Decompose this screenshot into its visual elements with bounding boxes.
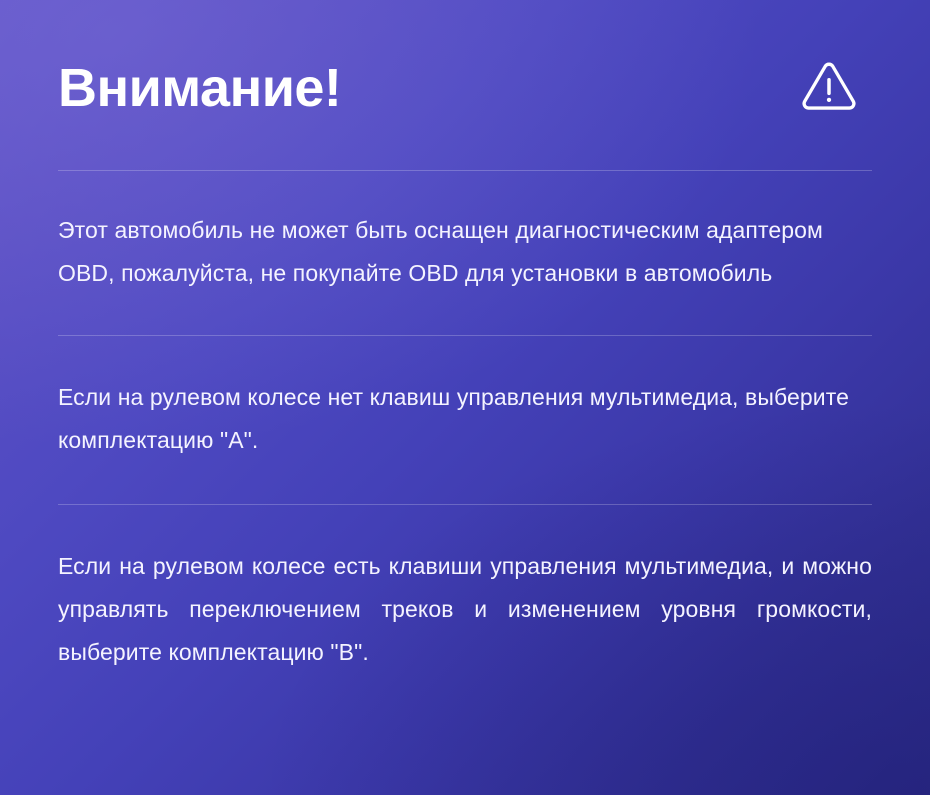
notice-item-trim-option-a: Если на рулевом колесе нет клавиш управл… — [58, 336, 872, 504]
notice-text: Если на рулевом колесе есть клавиши упра… — [58, 545, 872, 674]
notice-text: Этот автомобиль не может быть оснащен ди… — [58, 209, 872, 295]
notice-text: Если на рулевом колесе нет клавиш управл… — [58, 376, 872, 462]
notice-item-trim-option-b: Если на рулевом колесе есть клавиши упра… — [58, 505, 872, 714]
notice-header: Внимание! — [58, 0, 872, 170]
warning-notice-card: Внимание! Этот автомобиль не может быть … — [0, 0, 930, 795]
notice-item-obd-not-supported: Этот автомобиль не может быть оснащен ди… — [58, 171, 872, 335]
warning-icon-wrap — [798, 57, 872, 119]
warning-triangle-icon — [798, 57, 860, 119]
page-title: Внимание! — [58, 61, 341, 115]
card-content: Внимание! Этот автомобиль не может быть … — [0, 0, 930, 714]
notice-body: Этот автомобиль не может быть оснащен ди… — [58, 171, 872, 714]
